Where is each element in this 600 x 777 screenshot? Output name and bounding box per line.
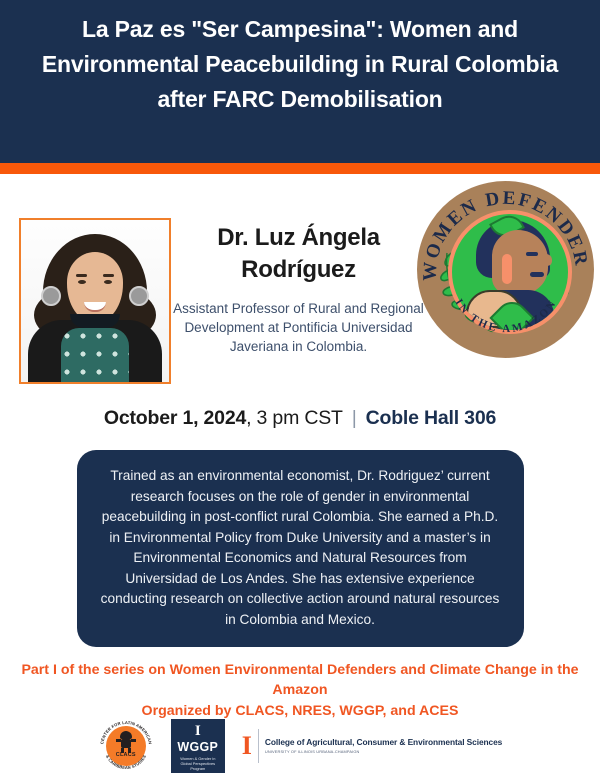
clacs-ring-text: CENTER FOR LATIN AMERICAN & CARIBBEAN ST…: [99, 719, 153, 773]
portrait-eye-left: [78, 280, 86, 284]
page-title: La Paz es "Ser Campesina": Women and Env…: [34, 12, 566, 117]
event-date: October 1, 2024: [104, 407, 246, 429]
portrait-brow-left: [76, 274, 87, 277]
clacs-ring-bottom-label: & CARIBBEAN STUDIES: [105, 754, 147, 770]
svg-text:IN THE AMAZON: IN THE AMAZON: [452, 297, 559, 335]
badge-arc-bottom-label: IN THE AMAZON: [452, 297, 559, 335]
speaker-photo: [19, 218, 171, 384]
illinois-block-i-icon: I: [242, 733, 252, 759]
clacs-logo: CLACS CENTER FOR LATIN AMERICAN & CARIBB…: [98, 718, 154, 774]
aces-logo: I College of Agricultural, Consumer & En…: [242, 729, 502, 763]
sponsor-logos: CLACS CENTER FOR LATIN AMERICAN & CARIBB…: [0, 717, 600, 775]
illinois-block-i-icon: I: [195, 724, 201, 739]
portrait-earring-left: [41, 286, 61, 306]
wggp-subtitle: Women & Gender in Global Perspectives Pr…: [175, 756, 221, 771]
svg-text:& CARIBBEAN STUDIES: & CARIBBEAN STUDIES: [105, 754, 147, 770]
aces-subtitle: UNIVERSITY OF ILLINOIS URBANA-CHAMPAIGN: [265, 749, 502, 755]
aces-text-block: College of Agricultural, Consumer & Envi…: [265, 737, 502, 756]
series-note: Part I of the series on Women Environmen…: [20, 660, 580, 700]
event-time: , 3 pm CST: [246, 407, 343, 429]
svg-text:CENTER FOR LATIN AMERICAN: CENTER FOR LATIN AMERICAN: [99, 720, 153, 745]
portrait-earring-right: [129, 286, 149, 306]
portrait-collar: [70, 314, 120, 328]
speaker-section: Dr. Luz Ángela Rodríguez Assistant Profe…: [0, 174, 600, 399]
event-location: Coble Hall 306: [366, 407, 497, 429]
speaker-details: Dr. Luz Ángela Rodríguez Assistant Profe…: [172, 222, 425, 356]
event-datetime-line: October 1, 2024, 3 pm CST|Coble Hall 306: [0, 407, 600, 430]
speaker-bio-text: Trained as an environmental economist, D…: [97, 466, 504, 630]
portrait-eye-right: [104, 280, 112, 284]
portrait-brow-right: [103, 274, 114, 277]
portrait-face: [67, 252, 123, 322]
aces-title: College of Agricultural, Consumer & Envi…: [265, 737, 502, 748]
speaker-affiliation: Assistant Professor of Rural and Regiona…: [172, 299, 425, 356]
poster-header: La Paz es "Ser Campesina": Women and Env…: [0, 0, 600, 163]
speaker-bio-box: Trained as an environmental economist, D…: [77, 450, 524, 647]
wggp-acronym: WGGP: [177, 740, 218, 754]
clacs-ring-top-label: CENTER FOR LATIN AMERICAN: [99, 720, 153, 745]
portrait-smile: [84, 302, 106, 312]
orange-divider-rule: [0, 163, 600, 174]
women-defenders-badge: WOMEN DEFENDERS IN THE AMAZON: [417, 181, 594, 358]
aces-divider: [258, 729, 259, 763]
portrait-dress: [61, 328, 129, 382]
portrait-illustration: [21, 220, 169, 382]
badge-arc-bottom-text: IN THE AMAZON: [417, 181, 594, 358]
wggp-logo: I WGGP Women & Gender in Global Perspect…: [171, 719, 225, 773]
datetime-separator: |: [352, 407, 357, 430]
speaker-name: Dr. Luz Ángela Rodríguez: [172, 222, 425, 286]
